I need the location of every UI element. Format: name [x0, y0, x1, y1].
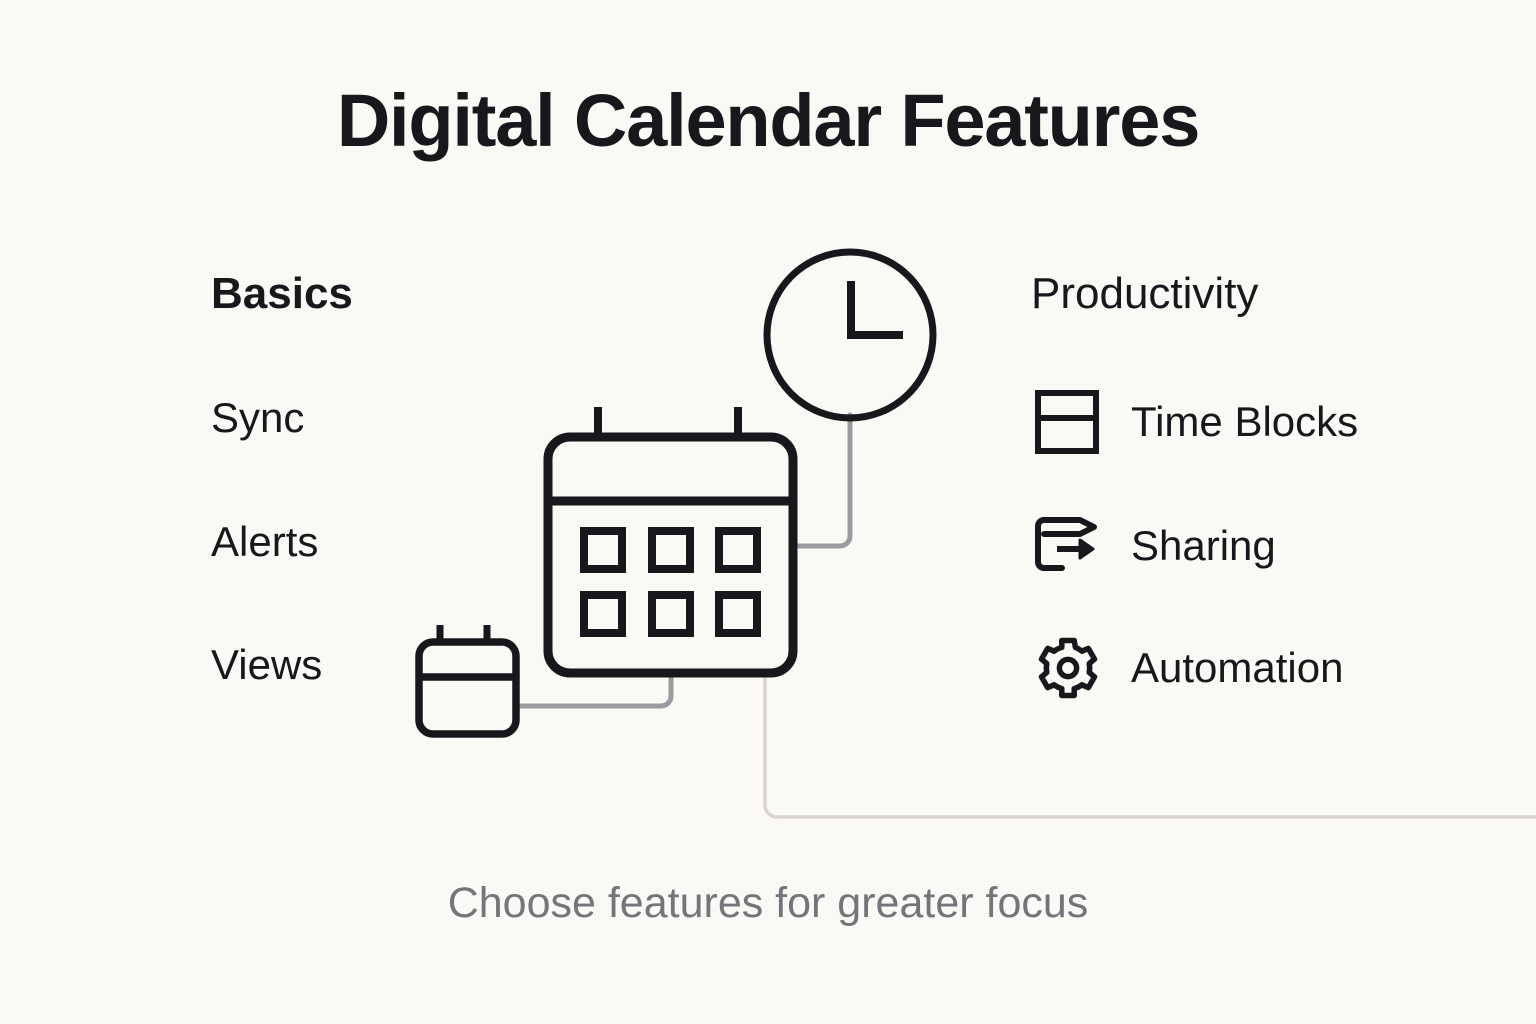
right-item-label: Time Blocks: [1131, 401, 1358, 443]
right-item-label: Sharing: [1131, 525, 1276, 567]
clock-icon: [767, 252, 933, 418]
left-column-heading: Basics: [211, 272, 353, 316]
right-item-sharing[interactable]: Sharing: [1031, 509, 1276, 583]
right-item-time-blocks[interactable]: Time Blocks: [1031, 385, 1358, 459]
right-item-label: Automation: [1131, 647, 1343, 689]
right-item-automation[interactable]: Automation: [1031, 631, 1343, 705]
left-item-alerts[interactable]: Alerts: [211, 521, 318, 563]
right-column-heading: Productivity: [1031, 272, 1258, 316]
connector-small-calendar-to-calendar: [520, 676, 671, 706]
share-arrow-icon: [1031, 509, 1105, 583]
split-block-icon: [1031, 385, 1105, 459]
left-item-sync[interactable]: Sync: [211, 397, 304, 439]
gear-icon: [1031, 631, 1105, 705]
connector-clock-to-calendar: [795, 415, 850, 546]
left-item-views[interactable]: Views: [211, 644, 322, 686]
page-title: Digital Calendar Features: [0, 84, 1536, 158]
calendar-large-icon: [548, 407, 793, 673]
caption: Choose features for greater focus: [0, 882, 1536, 925]
infographic-canvas: Digital Calendar Features Basics Sync Al…: [0, 0, 1536, 1024]
calendar-small-icon: [419, 625, 516, 734]
